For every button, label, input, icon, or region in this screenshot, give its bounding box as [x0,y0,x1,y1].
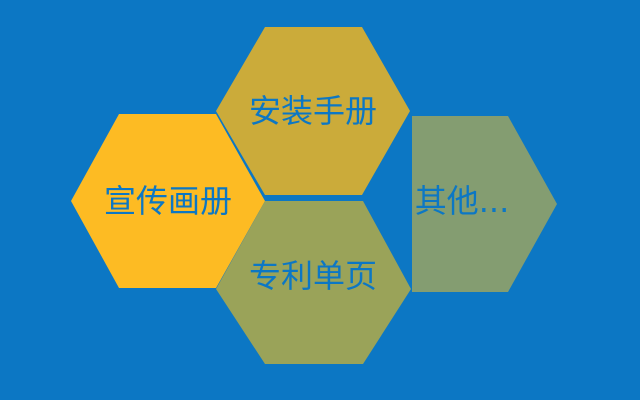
hexagon-cluster-svg: 宣传画册 安装手册 专利单页 其他... [0,0,640,400]
hexagon-label-top: 安装手册 [249,92,377,130]
hexagon-label-right: 其他... [415,182,510,220]
hexagon-label-bottom: 专利单页 [249,257,377,295]
diagram-canvas: 宣传画册 安装手册 专利单页 其他... [0,0,640,400]
hexagon-label-left: 宣传画册 [104,182,232,220]
